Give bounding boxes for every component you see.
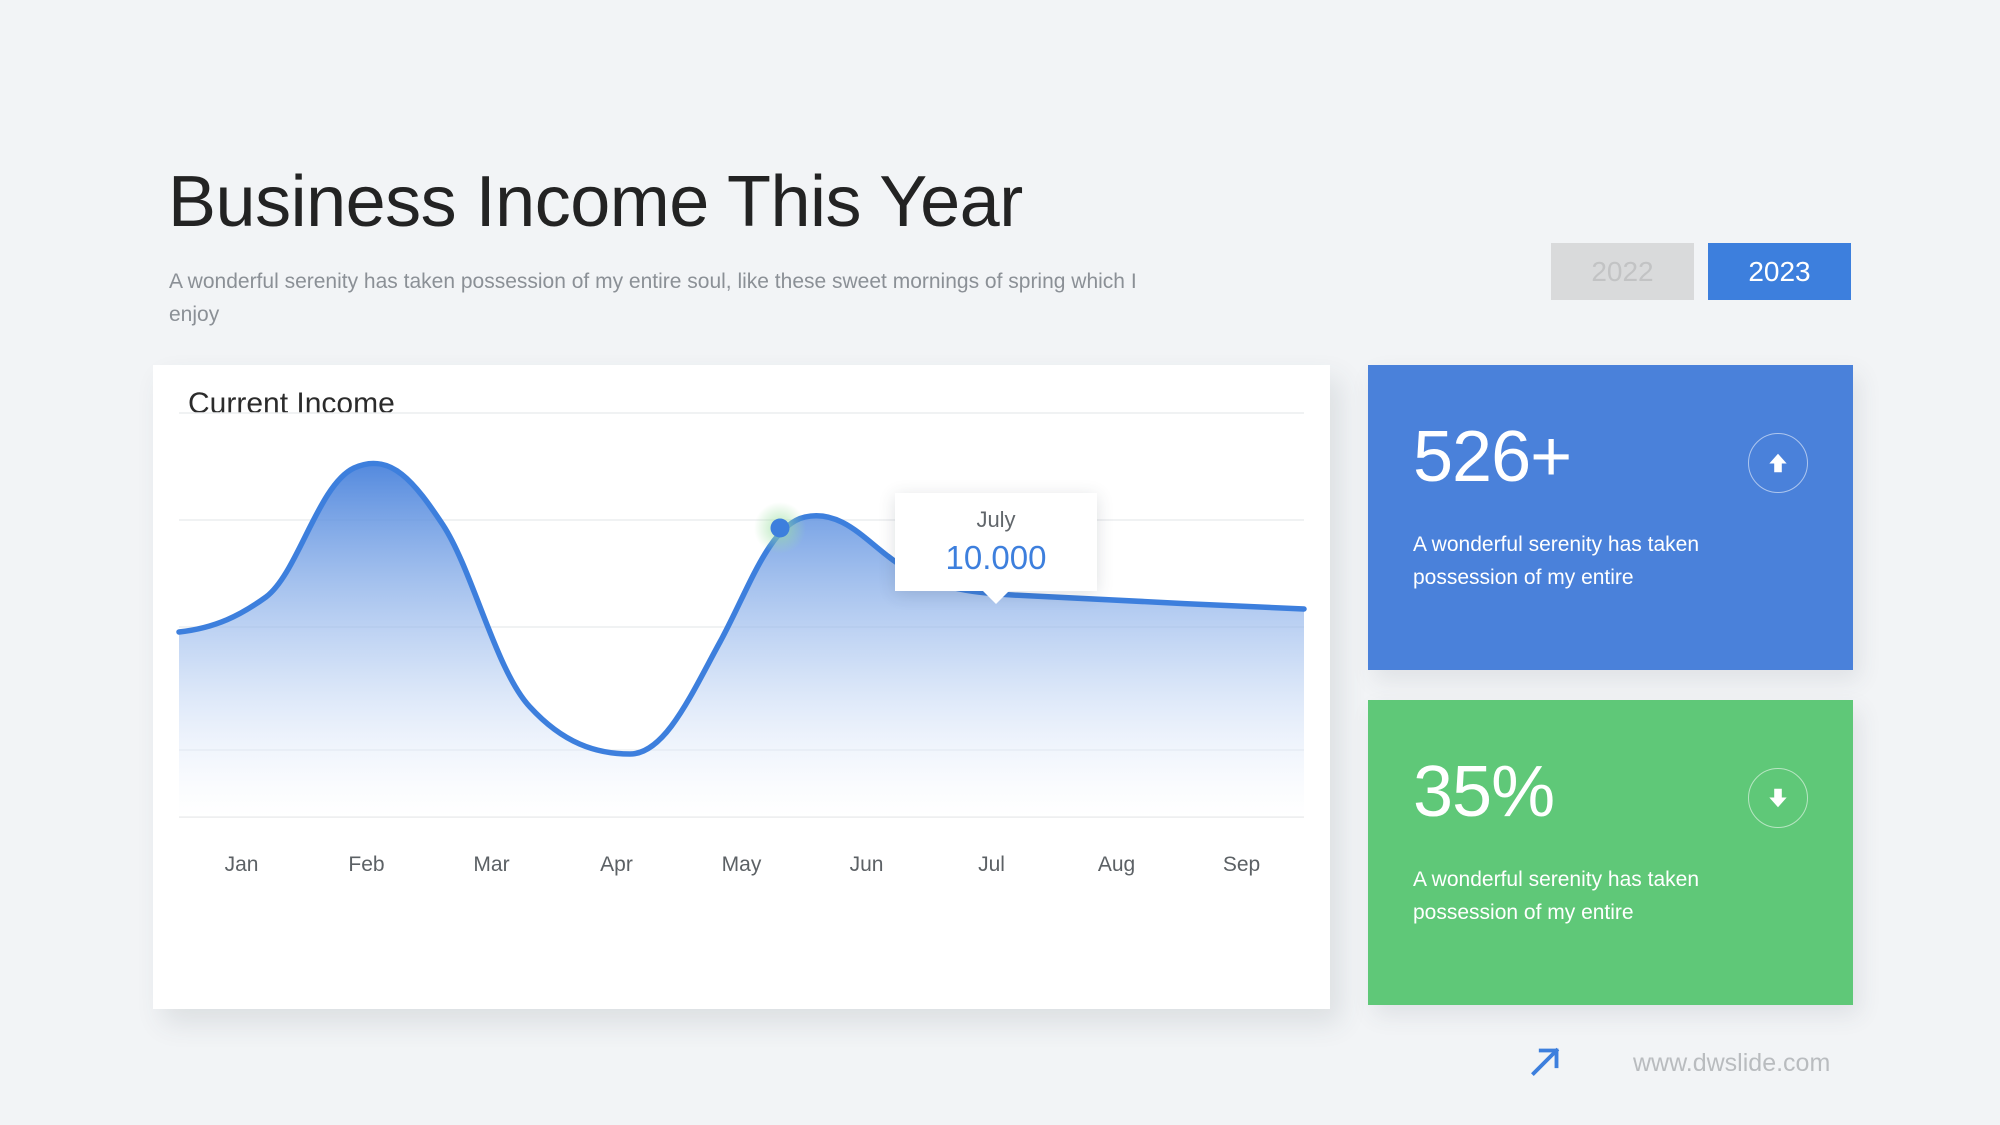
- x-axis-label: Jul: [929, 853, 1054, 893]
- stat-value: 35%: [1413, 756, 1554, 828]
- x-axis-label: Aug: [1054, 853, 1179, 893]
- arrow-up-icon: [1748, 433, 1808, 493]
- stat-description: A wonderful serenity has taken possessio…: [1413, 529, 1808, 594]
- tooltip-month: July: [976, 507, 1015, 533]
- x-axis-label: May: [679, 853, 804, 893]
- x-axis-label: Sep: [1179, 853, 1304, 893]
- slide-root: Business Income This Year A wonderful se…: [0, 0, 2000, 1125]
- year-button-2023[interactable]: 2023: [1708, 243, 1851, 300]
- arrow-down-icon: [1748, 768, 1808, 828]
- stat-value: 526+: [1413, 421, 1571, 493]
- year-button-2022[interactable]: 2022: [1551, 243, 1694, 300]
- chart-card: Current Income: [153, 365, 1330, 1009]
- chart-area-fill: [179, 463, 1304, 817]
- chart-x-axis-labels: Jan Feb Mar Apr May Jun Jul Aug Sep: [153, 853, 1330, 893]
- tooltip-value: 10.000: [946, 539, 1047, 577]
- stat-card-expense[interactable]: 35% A wonderful serenity has taken posse…: [1368, 700, 1853, 1005]
- x-axis-label: Feb: [304, 853, 429, 893]
- x-axis-label: Apr: [554, 853, 679, 893]
- stat-card-income[interactable]: 526+ A wonderful serenity has taken poss…: [1368, 365, 1853, 670]
- stat-header: 526+: [1413, 421, 1808, 493]
- stat-header: 35%: [1413, 756, 1808, 828]
- x-axis-label: Jun: [804, 853, 929, 893]
- chart-tooltip: July 10.000: [895, 493, 1097, 591]
- arrow-up-right-icon: [1525, 1040, 1567, 1087]
- page-title: Business Income This Year: [168, 166, 1023, 238]
- income-area-chart[interactable]: [153, 365, 1330, 1009]
- footer: www.dwslide.com: [1525, 1040, 1830, 1087]
- x-axis-label: Jan: [179, 853, 304, 893]
- page-subtitle: A wonderful serenity has taken possessio…: [169, 266, 1169, 331]
- stat-description: A wonderful serenity has taken possessio…: [1413, 864, 1808, 929]
- chart-point-marker: [771, 519, 790, 538]
- x-axis-label: Mar: [429, 853, 554, 893]
- year-toggle-group: 2022 2023: [1551, 243, 1851, 300]
- footer-url[interactable]: www.dwslide.com: [1633, 1049, 1830, 1078]
